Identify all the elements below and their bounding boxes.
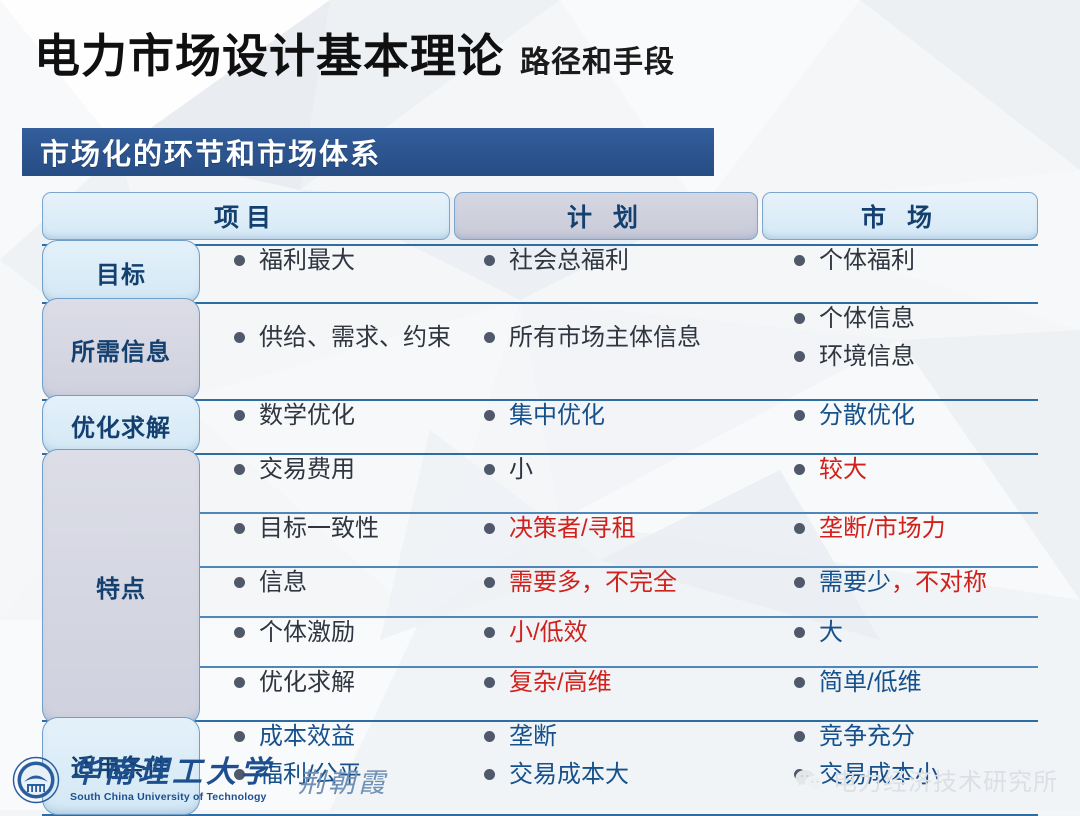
bullet-text: 小 — [509, 455, 533, 486]
bullet-text: 大 — [819, 618, 843, 649]
wechat-watermark: 电力经济技术研究所 — [794, 762, 1058, 797]
bullet-dot-icon — [234, 627, 245, 638]
title-main: 电力市场设计基本理论 — [34, 20, 504, 86]
bullet-item: 垄断 — [484, 722, 794, 753]
table-header-row: 项目 计 划 市 场 — [42, 192, 1038, 240]
bullet-item: 社会总福利 — [484, 246, 794, 277]
row-label-所需信息: 所需信息 — [42, 298, 200, 401]
row-cells: 优化求解复杂/高维简单/低维 — [218, 668, 1044, 699]
table-cell: 复杂/高维 — [484, 668, 794, 699]
table-cell: 福利最大 — [218, 246, 484, 277]
bullet-dot-icon — [484, 731, 495, 742]
bullet-dot-icon — [234, 332, 245, 343]
table-cell: 数学优化 — [218, 401, 484, 432]
bullet-text: 所有市场主体信息 — [509, 323, 701, 354]
bullet-item: 数学优化 — [234, 401, 484, 432]
bullet-item: 较大 — [794, 455, 1044, 486]
bullet-item: 小/低效 — [484, 618, 794, 649]
table-cell: 需要少，不对称 — [794, 568, 1044, 599]
table-cell: 交易费用 — [218, 455, 484, 486]
university-logo: 华南理工大学 South China University of Technol… — [12, 756, 388, 804]
bullet-dot-icon — [234, 464, 245, 475]
table-cell: 集中优化 — [484, 401, 794, 432]
row-cells: 交易费用小较大 — [218, 455, 1044, 486]
table-cell: 个体激励 — [218, 618, 484, 649]
bullet-text: 集中优化 — [509, 401, 605, 432]
table-cell: 垄断交易成本大 — [484, 722, 794, 790]
bullet-text: 简单/低维 — [819, 668, 922, 699]
bullet-dot-icon — [484, 627, 495, 638]
bullet-item: 竞争充分 — [794, 722, 1044, 753]
bullet-text: 交易费用 — [259, 455, 355, 486]
author-name: 荆朝霞 — [298, 761, 388, 800]
table-cell: 小/低效 — [484, 618, 794, 649]
scut-seal-icon — [12, 756, 60, 804]
bullet-dot-icon — [794, 731, 805, 742]
bullet-item: 个体福利 — [794, 246, 1044, 277]
bullet-text: 复杂/高维 — [509, 668, 612, 699]
bullet-item: 交易成本大 — [484, 760, 794, 791]
row-label-优化求解: 优化求解 — [42, 395, 200, 455]
bullet-dot-icon — [484, 677, 495, 688]
row-cells: 个体激励小/低效大 — [218, 618, 1044, 649]
bullet-text: 需要多，不完全 — [509, 568, 677, 599]
column-header-market: 市 场 — [762, 192, 1038, 240]
bullet-dot-icon — [484, 255, 495, 266]
bullet-item: 垄断/市场力 — [794, 514, 1044, 545]
bullet-dot-icon — [484, 769, 495, 780]
bullet-dot-icon — [234, 523, 245, 534]
table-cell: 优化求解 — [218, 668, 484, 699]
bullet-dot-icon — [794, 464, 805, 475]
bullet-item: 交易费用 — [234, 455, 484, 486]
bullet-dot-icon — [234, 255, 245, 266]
table-cell: 决策者/寻租 — [484, 514, 794, 545]
bullet-item: 决策者/寻租 — [484, 514, 794, 545]
table-body: 福利最大社会总福利个体福利供给、需求、约束所有市场主体信息个体信息环境信息数学优… — [42, 244, 1038, 816]
bullet-text: 交易成本大 — [509, 760, 629, 791]
bullet-text: 小/低效 — [509, 618, 588, 649]
table-cell: 供给、需求、约束 — [218, 304, 484, 372]
bullet-dot-icon — [234, 677, 245, 688]
table-cell: 分散优化 — [794, 401, 1044, 432]
bullet-item: 所有市场主体信息 — [484, 323, 794, 354]
bullet-text: 较大 — [819, 455, 867, 486]
bullet-text: 分散优化 — [819, 401, 915, 432]
table-cell: 小 — [484, 455, 794, 486]
bullet-text: 需要少，不对称 — [819, 568, 987, 599]
row-cells: 数学优化集中优化分散优化 — [218, 401, 1044, 432]
table-cell: 信息 — [218, 568, 484, 599]
section-banner-label: 市场化的环节和市场体系 — [22, 131, 381, 173]
table-cell: 所有市场主体信息 — [484, 304, 794, 372]
bullet-text-suffix: ，不对称 — [891, 569, 987, 596]
bullet-item: 需要多，不完全 — [484, 568, 794, 599]
bullet-dot-icon — [794, 627, 805, 638]
table-cell: 需要多，不完全 — [484, 568, 794, 599]
row-cells: 信息需要多，不完全需要少，不对称 — [218, 568, 1044, 599]
watermark-label: 电力经济技术研究所 — [833, 762, 1058, 797]
bullet-text: 垄断/市场力 — [819, 514, 946, 545]
table-cell: 个体福利 — [794, 246, 1044, 277]
bullet-text: 供给、需求、约束 — [259, 323, 451, 354]
bullet-item: 个体信息 — [794, 304, 1044, 335]
bullet-item: 简单/低维 — [794, 668, 1044, 699]
table-cell: 较大 — [794, 455, 1044, 486]
table-cell: 垄断/市场力 — [794, 514, 1044, 545]
bullet-dot-icon — [484, 577, 495, 588]
bullet-item: 信息 — [234, 568, 484, 599]
bullet-dot-icon — [484, 464, 495, 475]
column-header-item: 项目 — [42, 192, 450, 240]
bullet-item: 大 — [794, 618, 1044, 649]
bullet-text: 成本效益 — [259, 722, 355, 753]
comparison-table: 项目 计 划 市 场 福利最大社会总福利个体福利供给、需求、约束所有市场主体信息… — [42, 192, 1038, 816]
bullet-dot-icon — [234, 410, 245, 421]
bullet-text: 目标一致性 — [259, 514, 379, 545]
bullet-dot-icon — [794, 351, 805, 362]
bullet-text: 竞争充分 — [819, 722, 915, 753]
bullet-text: 垄断 — [509, 722, 557, 753]
bullet-text: 数学优化 — [259, 401, 355, 432]
table-cell: 社会总福利 — [484, 246, 794, 277]
bullet-dot-icon — [484, 332, 495, 343]
university-name-en: South China University of Technology — [70, 792, 274, 803]
bullet-item: 优化求解 — [234, 668, 484, 699]
bullet-dot-icon — [794, 523, 805, 534]
bullet-text: 决策者/寻租 — [509, 514, 636, 545]
row-cells: 福利最大社会总福利个体福利 — [218, 246, 1044, 277]
page-title: 电力市场设计基本理论 路径和手段 — [34, 20, 675, 86]
wechat-icon — [794, 768, 824, 792]
bullet-item: 供给、需求、约束 — [234, 323, 484, 354]
column-header-plan: 计 划 — [454, 192, 758, 240]
bullet-text: 环境信息 — [819, 342, 915, 373]
bullet-text: 个体信息 — [819, 304, 915, 335]
title-sub: 路径和手段 — [520, 37, 675, 81]
bullet-dot-icon — [794, 255, 805, 266]
bullet-dot-icon — [234, 731, 245, 742]
bullet-text: 优化求解 — [259, 668, 355, 699]
bullet-text: 社会总福利 — [509, 246, 629, 277]
row-cells: 目标一致性决策者/寻租垄断/市场力 — [218, 514, 1044, 545]
bullet-item: 福利最大 — [234, 246, 484, 277]
bullet-dot-icon — [794, 313, 805, 324]
bullet-text: 个体激励 — [259, 618, 355, 649]
row-label-目标: 目标 — [42, 240, 200, 304]
bullet-dot-icon — [484, 523, 495, 534]
bullet-item: 成本效益 — [234, 722, 484, 753]
bullet-dot-icon — [794, 410, 805, 421]
bullet-dot-icon — [794, 577, 805, 588]
bullet-dot-icon — [794, 677, 805, 688]
bullet-item: 复杂/高维 — [484, 668, 794, 699]
table-cell: 简单/低维 — [794, 668, 1044, 699]
bullet-item: 个体激励 — [234, 618, 484, 649]
bullet-text: 信息 — [259, 568, 307, 599]
row-cells: 供给、需求、约束所有市场主体信息个体信息环境信息 — [218, 304, 1044, 372]
bullet-text: 个体福利 — [819, 246, 915, 277]
table-cell: 大 — [794, 618, 1044, 649]
bullet-dot-icon — [484, 410, 495, 421]
bullet-item: 目标一致性 — [234, 514, 484, 545]
bullet-item: 分散优化 — [794, 401, 1044, 432]
bullet-item: 环境信息 — [794, 342, 1044, 373]
bullet-text: 福利最大 — [259, 246, 355, 277]
bullet-item: 小 — [484, 455, 794, 486]
table-cell: 目标一致性 — [218, 514, 484, 545]
section-banner: 市场化的环节和市场体系 — [22, 128, 714, 176]
university-name-cn: 华南理工大学 — [70, 758, 274, 788]
bullet-dot-icon — [234, 577, 245, 588]
bullet-item: 集中优化 — [484, 401, 794, 432]
bullet-item: 需要少，不对称 — [794, 568, 1044, 599]
table-cell: 个体信息环境信息 — [794, 304, 1044, 372]
row-label-特点: 特点 — [42, 449, 200, 725]
